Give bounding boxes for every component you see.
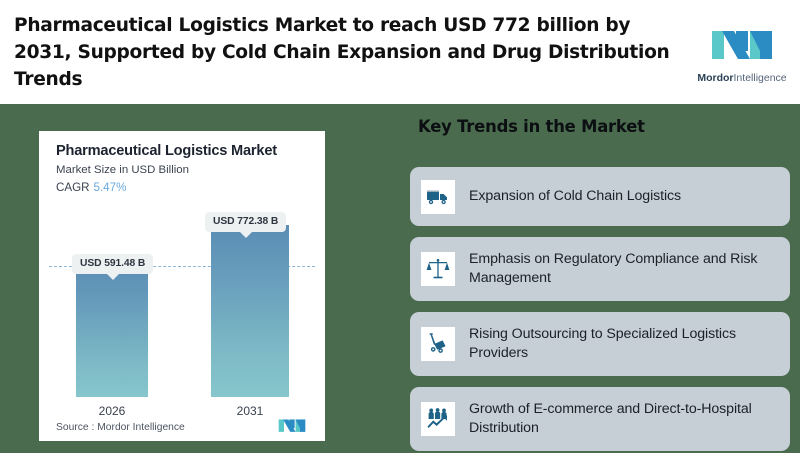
logo-suffix-text: Intelligence xyxy=(734,72,787,84)
mordor-intelligence-logo: MordorIntelligence xyxy=(693,8,791,96)
growth-people-icon xyxy=(421,402,455,436)
scales-icon xyxy=(421,252,455,286)
trend-item-regulatory-compliance[interactable]: Emphasis on Regulatory Compliance and Ri… xyxy=(410,237,790,301)
mordor-logo-mark xyxy=(710,21,774,66)
trend-label: Rising Outsourcing to Specialized Logist… xyxy=(469,325,778,363)
bar-2031 xyxy=(211,225,289,397)
logo-wordmark: MordorIntelligence xyxy=(697,72,786,84)
trend-label: Growth of E-commerce and Direct-to-Hospi… xyxy=(469,400,778,438)
hand-truck-icon xyxy=(421,327,455,361)
market-chart-card: Pharmaceutical Logistics Market Market S… xyxy=(39,131,325,441)
trend-label: Expansion of Cold Chain Logistics xyxy=(469,187,681,206)
key-trends-list: Expansion of Cold Chain Logistics Emphas… xyxy=(410,167,790,451)
header-banner: Pharmaceutical Logistics Market to reach… xyxy=(0,0,800,104)
data-label-2031: USD 772.38 B xyxy=(205,212,286,232)
logo-brand-text: Mordor xyxy=(697,72,733,84)
bar-chart-plot: USD 591.48 B USD 772.38 B 2026 2031 xyxy=(39,131,325,441)
trend-item-ecommerce-growth[interactable]: Growth of E-commerce and Direct-to-Hospi… xyxy=(410,387,790,451)
trend-item-cold-chain[interactable]: Expansion of Cold Chain Logistics xyxy=(410,167,790,226)
bar-2026 xyxy=(76,266,148,397)
truck-icon xyxy=(421,180,455,214)
trend-label: Emphasis on Regulatory Compliance and Ri… xyxy=(469,250,778,288)
data-label-2026: USD 591.48 B xyxy=(72,254,153,274)
infographic-page: Pharmaceutical Logistics Market to reach… xyxy=(0,0,800,453)
x-axis-label-2026: 2026 xyxy=(76,404,148,418)
key-trends-heading: Key Trends in the Market xyxy=(418,117,645,136)
trend-item-outsourcing[interactable]: Rising Outsourcing to Specialized Logist… xyxy=(410,312,790,376)
chart-source: Source : Mordor Intelligence xyxy=(56,422,185,433)
card-mordor-logo-icon xyxy=(277,415,307,435)
page-title: Pharmaceutical Logistics Market to reach… xyxy=(14,12,674,93)
